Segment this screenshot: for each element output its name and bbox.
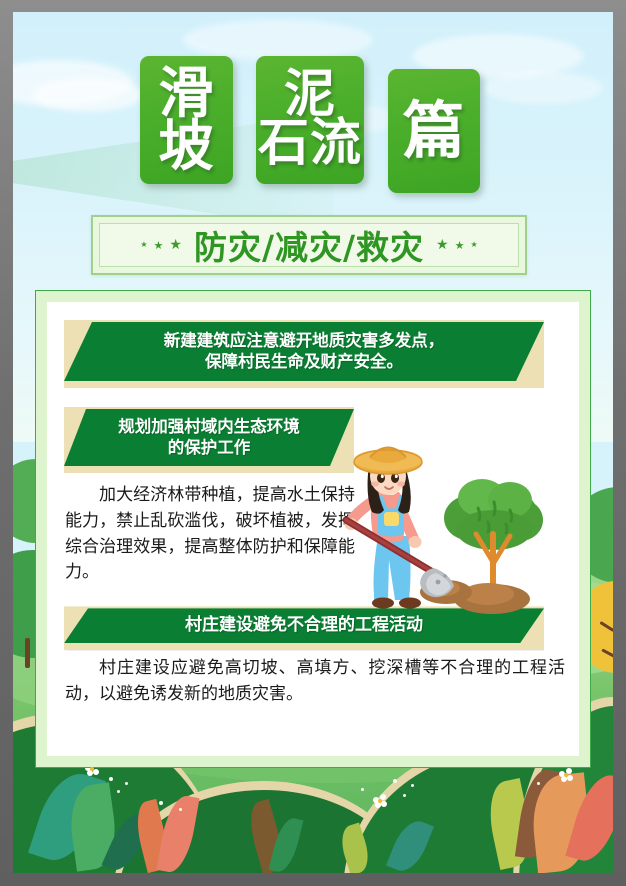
content-card: 新建建筑应注意避开地质灾害多发点， 保障村民生命及财产安全。 规划加强村域内生态… <box>47 302 579 756</box>
content-panel: 新建建筑应注意避开地质灾害多发点， 保障村民生命及财产安全。 规划加强村域内生态… <box>35 290 591 768</box>
banner-green-layer: 规划加强村域内生态环境 的保护工作 <box>64 409 354 466</box>
title-card-pian: 篇 <box>388 69 480 193</box>
title-card-pian-text: 篇 <box>402 101 465 161</box>
paragraph-2: 村庄建设应避免高切坡、高填方、挖深槽等不合理的工程活动，以避免诱发新的地质灾害。 <box>65 656 565 708</box>
poster-frame: 滑坡 泥石流 篇 ★ ★ ★ 防灾/减灾/救灾 ★ ★ ★ <box>0 0 626 886</box>
title-cards-row: 滑坡 泥石流 篇 <box>13 12 613 217</box>
title-card-huapo: 滑坡 <box>140 56 233 184</box>
banner-1-text: 新建建筑应注意避开地质灾害多发点， 保障村民生命及财产安全。 <box>164 331 445 371</box>
banner-2-text: 规划加强村域内生态环境 的保护工作 <box>118 417 300 457</box>
tree-icon <box>444 479 543 590</box>
banner-section-2: 规划加强村域内生态环境 的保护工作 <box>64 407 354 473</box>
star-icon: ★ <box>470 241 477 249</box>
card-yellow-accent <box>250 62 257 180</box>
title-card-nishiliu-text: 泥石流 <box>258 71 362 169</box>
star-icon: ★ <box>436 238 449 252</box>
poster-canvas: 滑坡 泥石流 篇 ★ ★ ★ 防灾/减灾/救灾 ★ ★ ★ <box>13 12 613 873</box>
subtitle-text: 防灾/减灾/救灾 <box>194 221 424 269</box>
star-icon: ★ <box>455 240 465 251</box>
banner-2-line2: 的保护工作 <box>168 438 251 457</box>
star-icon: ★ <box>154 240 164 251</box>
star-icon: ★ <box>140 241 147 249</box>
banner-1-line1: 新建建筑应注意避开地质灾害多发点， <box>164 331 445 350</box>
illustration-girl-planting-tree <box>342 442 557 642</box>
paragraph-1: 加大经济林带种植，提高水土保持能力，禁止乱砍滥伐，破坏植被，发挥综合治理效果，提… <box>65 483 355 586</box>
banner-2-line1: 规划加强村域内生态环境 <box>118 417 300 436</box>
title-card-nishiliu: 泥石流 <box>256 56 364 184</box>
banner-1-line2: 保障村民生命及财产安全。 <box>205 352 403 371</box>
title-card-huapo-text: 滑坡 <box>158 67 214 173</box>
subtitle-inner: ★ ★ ★ 防灾/减灾/救灾 ★ ★ ★ <box>99 223 519 267</box>
planting-scene-svg <box>342 442 557 642</box>
banner-green-layer: 新建建筑应注意避开地质灾害多发点， 保障村民生命及财产安全。 <box>64 322 544 381</box>
flower-icon <box>373 794 386 807</box>
flower-icon <box>559 768 572 781</box>
star-icon: ★ <box>169 238 182 252</box>
banner-section-1: 新建建筑应注意避开地质灾害多发点， 保障村民生命及财产安全。 <box>64 320 544 388</box>
subtitle-stars-right: ★ ★ ★ <box>436 238 478 252</box>
subtitle-stars-left: ★ ★ ★ <box>140 238 182 252</box>
subtitle-bar: ★ ★ ★ 防灾/减灾/救灾 ★ ★ ★ <box>91 215 527 275</box>
card-yellow-accent <box>382 75 389 189</box>
